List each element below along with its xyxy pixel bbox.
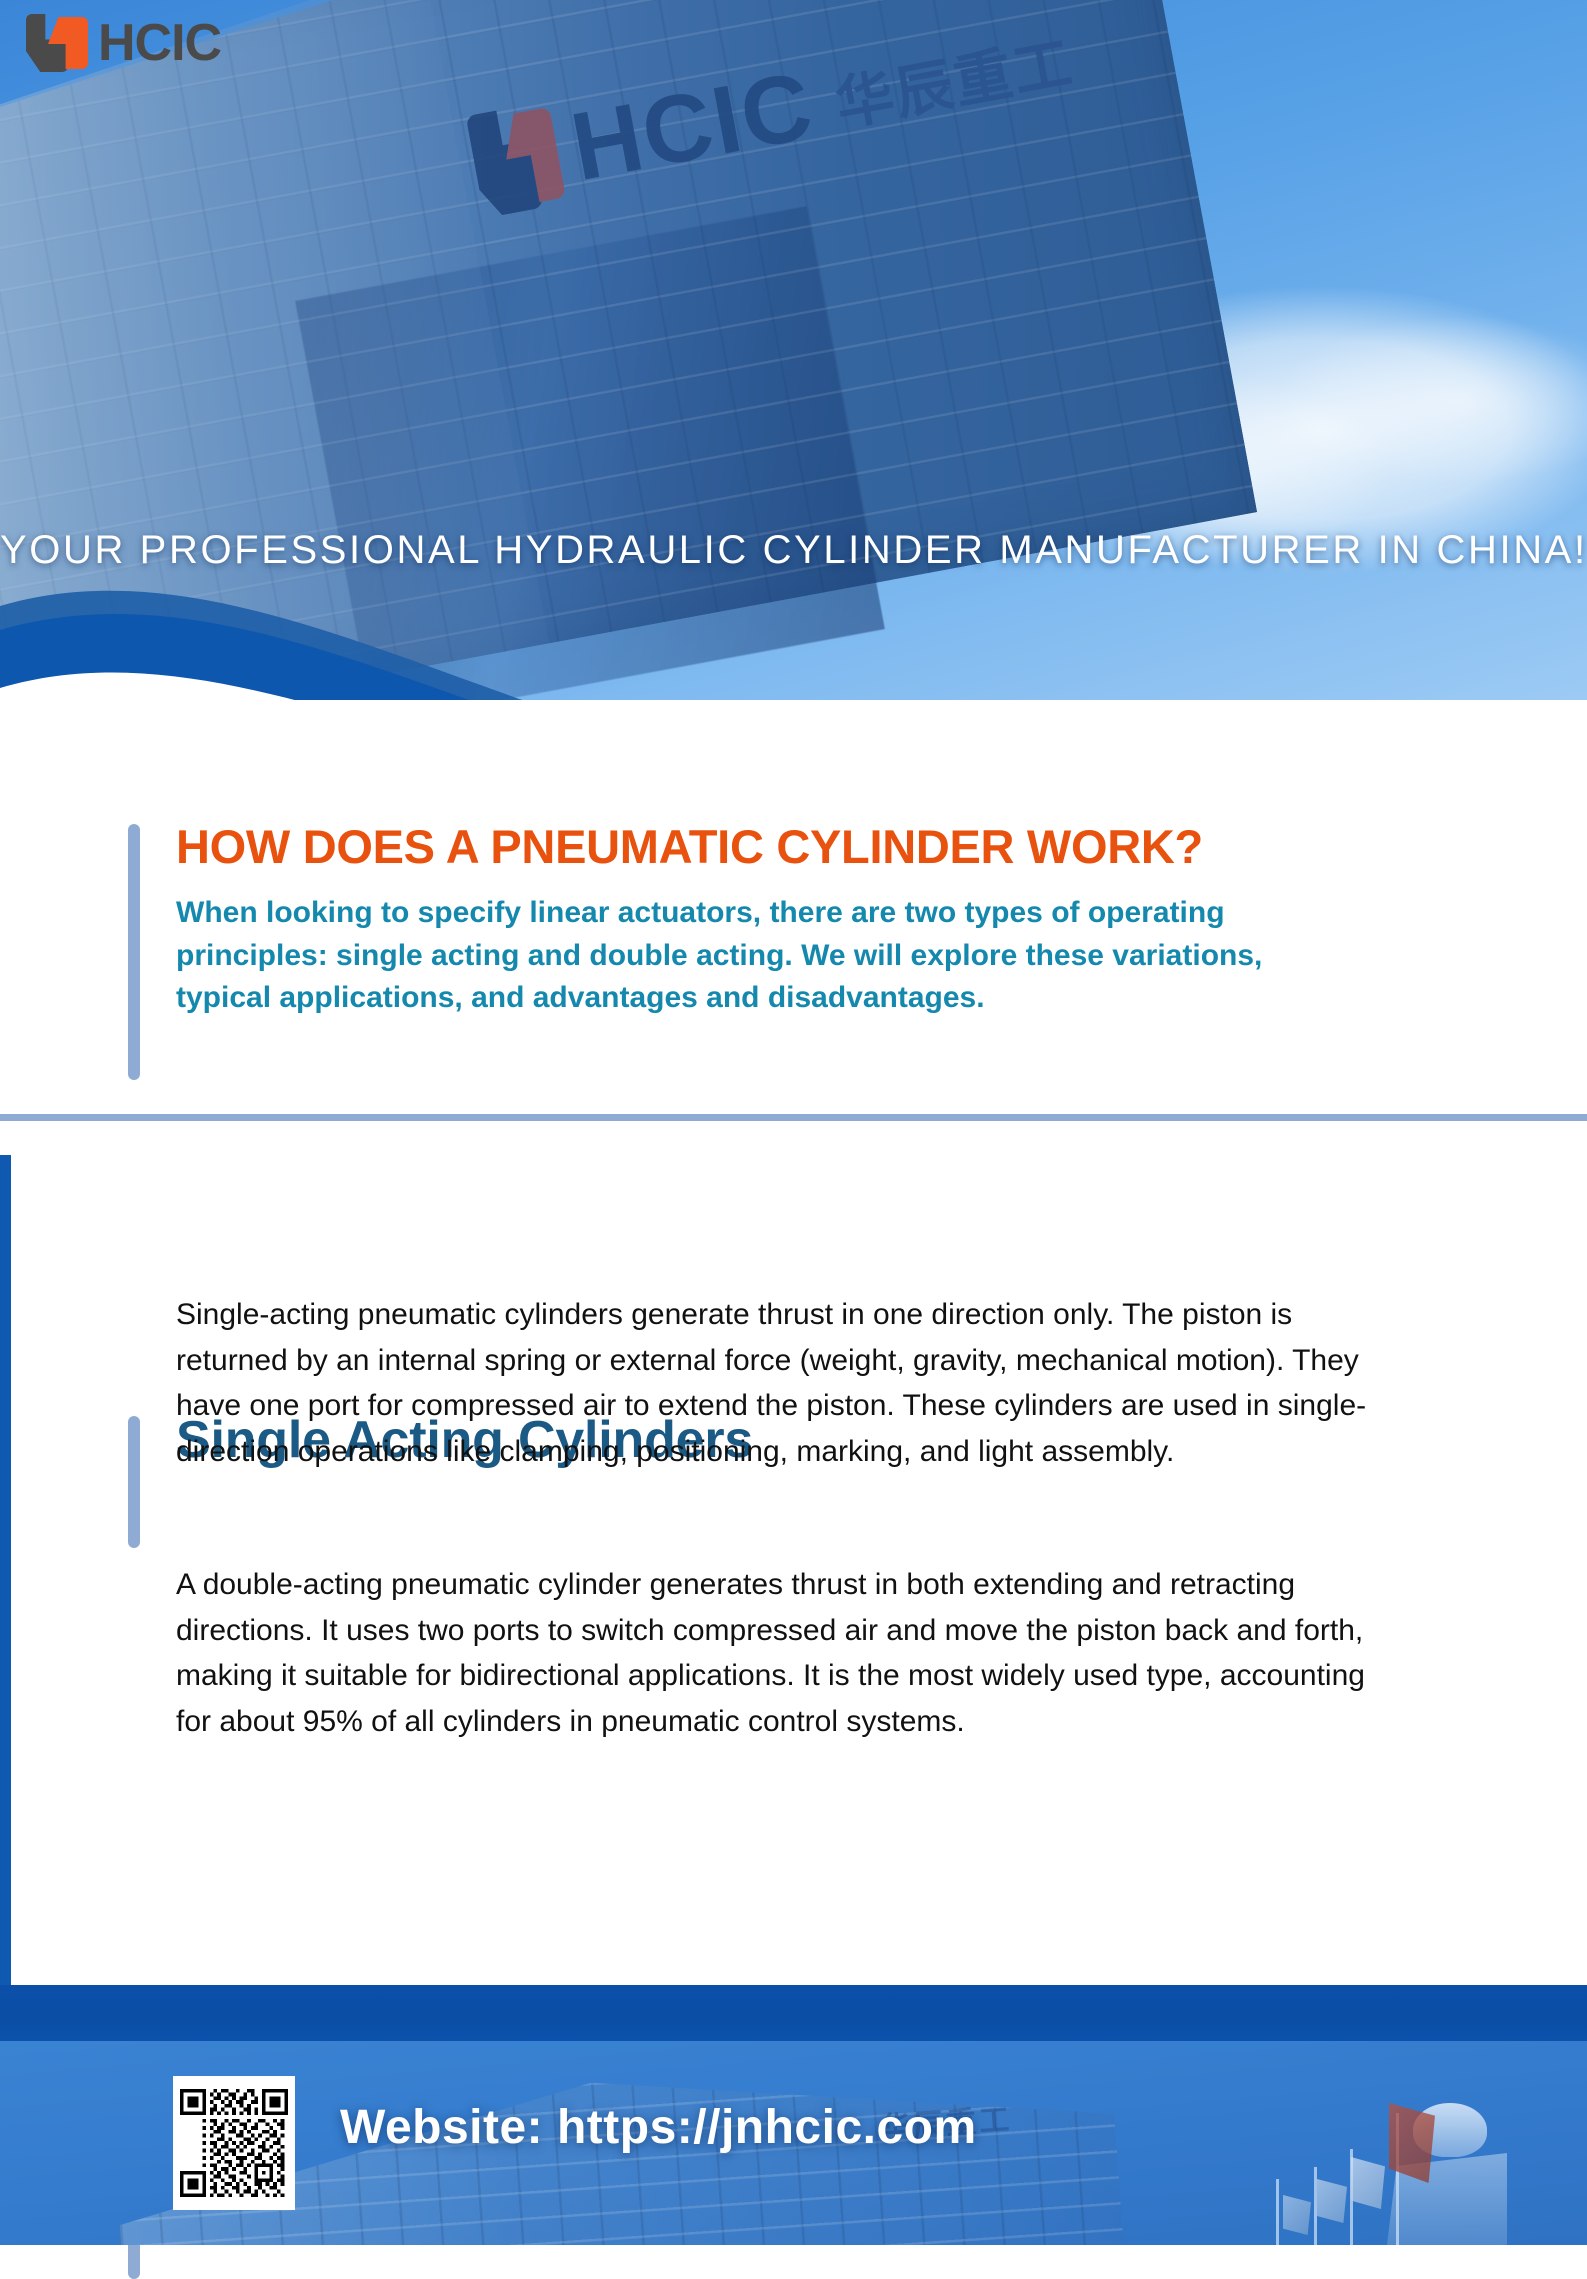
flag-group [1217,2085,1517,2245]
website-url[interactable]: Website: https://jnhcic.com [340,2100,977,2155]
flag-icon [1317,2179,1347,2223]
flag-icon [1351,2157,1385,2209]
double-acting-body-wrap: A double-acting pneumatic cylinder gener… [176,1562,1416,1744]
wave-white-mask [0,560,1587,800]
flag-icon [1283,2195,1311,2235]
flag-icon [1389,2103,1435,2183]
hcic-logo-mark-icon [466,100,570,218]
intro-paragraph: When looking to specify linear actuators… [176,892,1296,1020]
hcic-mark-icon [26,14,88,72]
qr-code[interactable] [173,2076,295,2210]
double-acting-body: A double-acting pneumatic cylinder gener… [176,1562,1386,1744]
single-acting-body: Single-acting pneumatic cylinders genera… [176,1292,1386,1474]
brand-name: HCIC [98,17,221,69]
page-title: HOW DOES A PNEUMATIC CYLINDER WORK? [176,820,1587,874]
single-acting-body-wrap: Single-acting pneumatic cylinders genera… [176,1292,1416,1474]
brand-logo[interactable]: HCIC [26,14,221,72]
intro-block: HOW DOES A PNEUMATIC CYLINDER WORK? When… [0,800,1587,1020]
